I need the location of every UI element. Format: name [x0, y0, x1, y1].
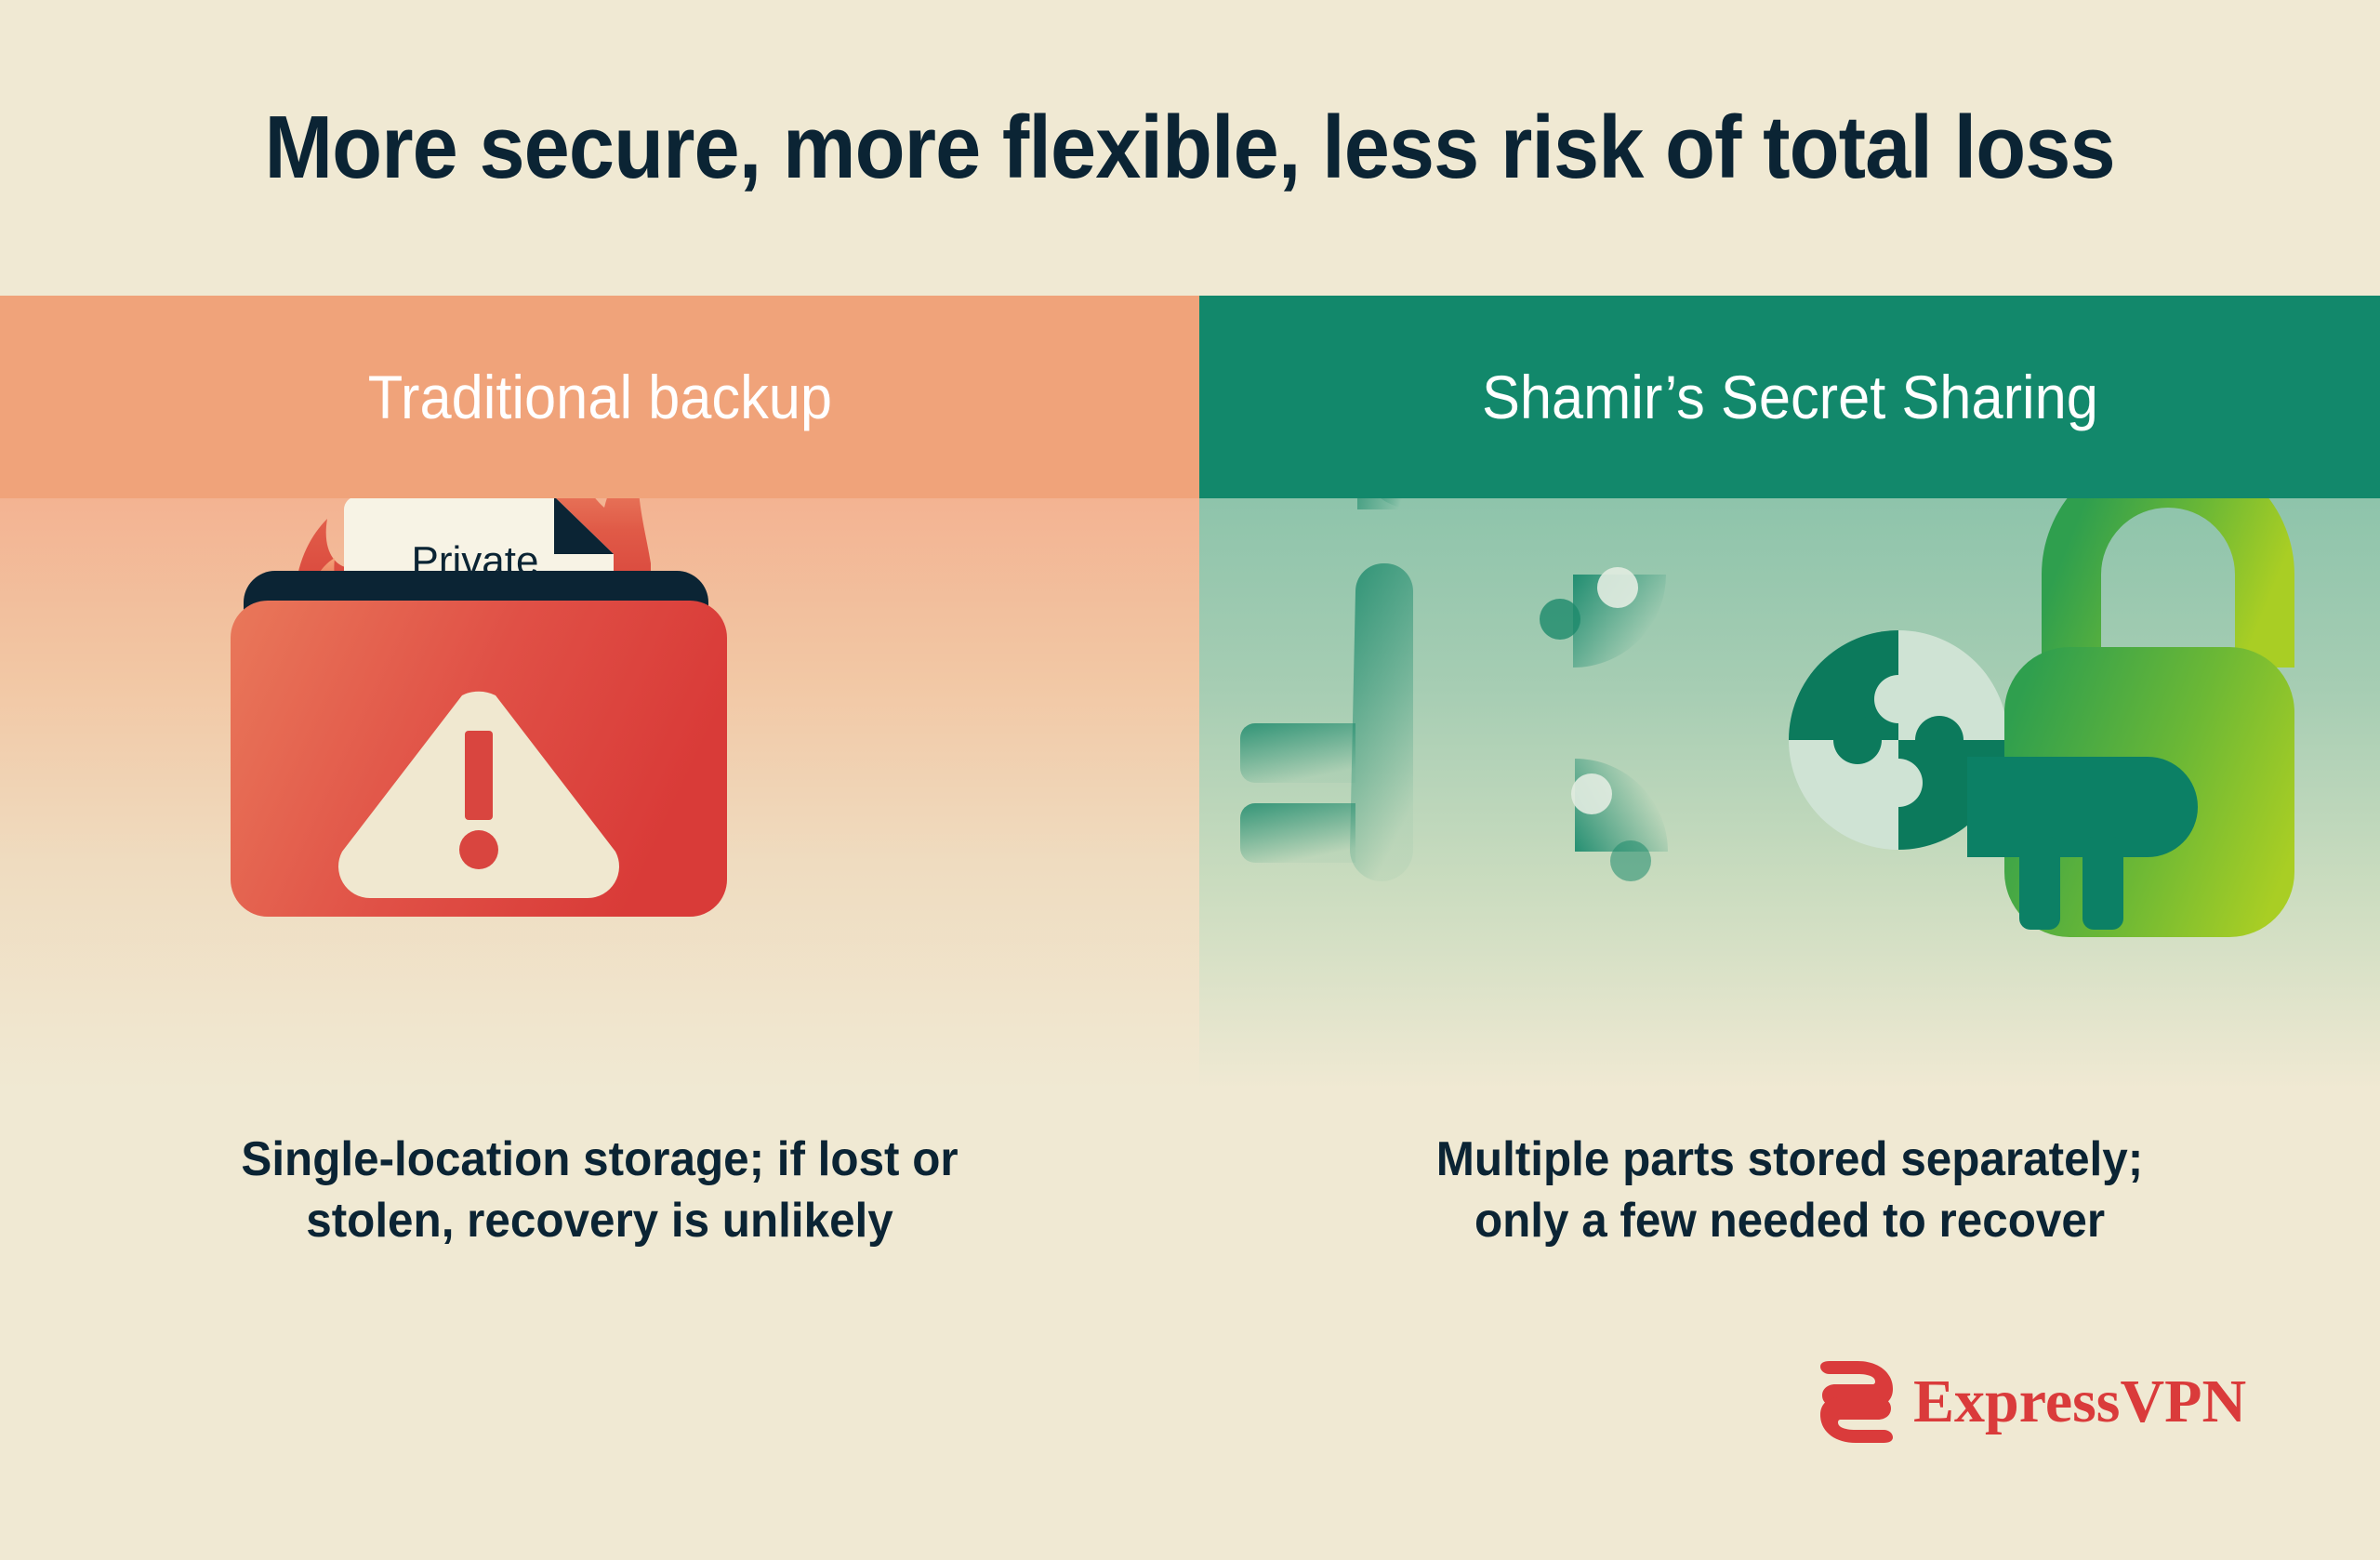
expressvpn-e-icon	[1820, 1359, 1893, 1445]
caption-shamirs-secret-sharing: Multiple parts stored separately; only a…	[1393, 1130, 2188, 1292]
caption-col-right: Multiple parts stored separately; only a…	[1199, 1130, 2380, 1292]
panel-shamirs-secret-sharing: Shamir’s Secret Sharing	[1199, 296, 2380, 1090]
exclamation-bar	[465, 731, 493, 820]
panel-header-traditional-backup: Traditional backup	[0, 296, 1199, 498]
panel-captions: Single-location storage; if lost or stol…	[0, 1130, 2380, 1292]
page-title: More secure, more flexible, less risk of…	[265, 97, 2115, 199]
title-section: More secure, more flexible, less risk of…	[0, 0, 2380, 296]
panel-traditional-backup: Traditional backup	[0, 296, 1199, 1090]
comparison-panels: Traditional backup	[0, 296, 2380, 1090]
caption-traditional-backup: Single-location storage; if lost or stol…	[203, 1130, 998, 1292]
caption-col-left: Single-location storage; if lost or stol…	[0, 1130, 1199, 1292]
expressvpn-wordmark: ExpressVPN	[1913, 1367, 2246, 1437]
panel-header-shamirs-secret-sharing: Shamir’s Secret Sharing	[1199, 296, 2380, 498]
expressvpn-logo: ExpressVPN	[1820, 1359, 2246, 1445]
panel-header-label-left: Traditional backup	[367, 362, 831, 432]
exclamation-dot	[459, 830, 498, 869]
panel-header-label-right: Shamir’s Secret Sharing	[1481, 362, 2097, 432]
